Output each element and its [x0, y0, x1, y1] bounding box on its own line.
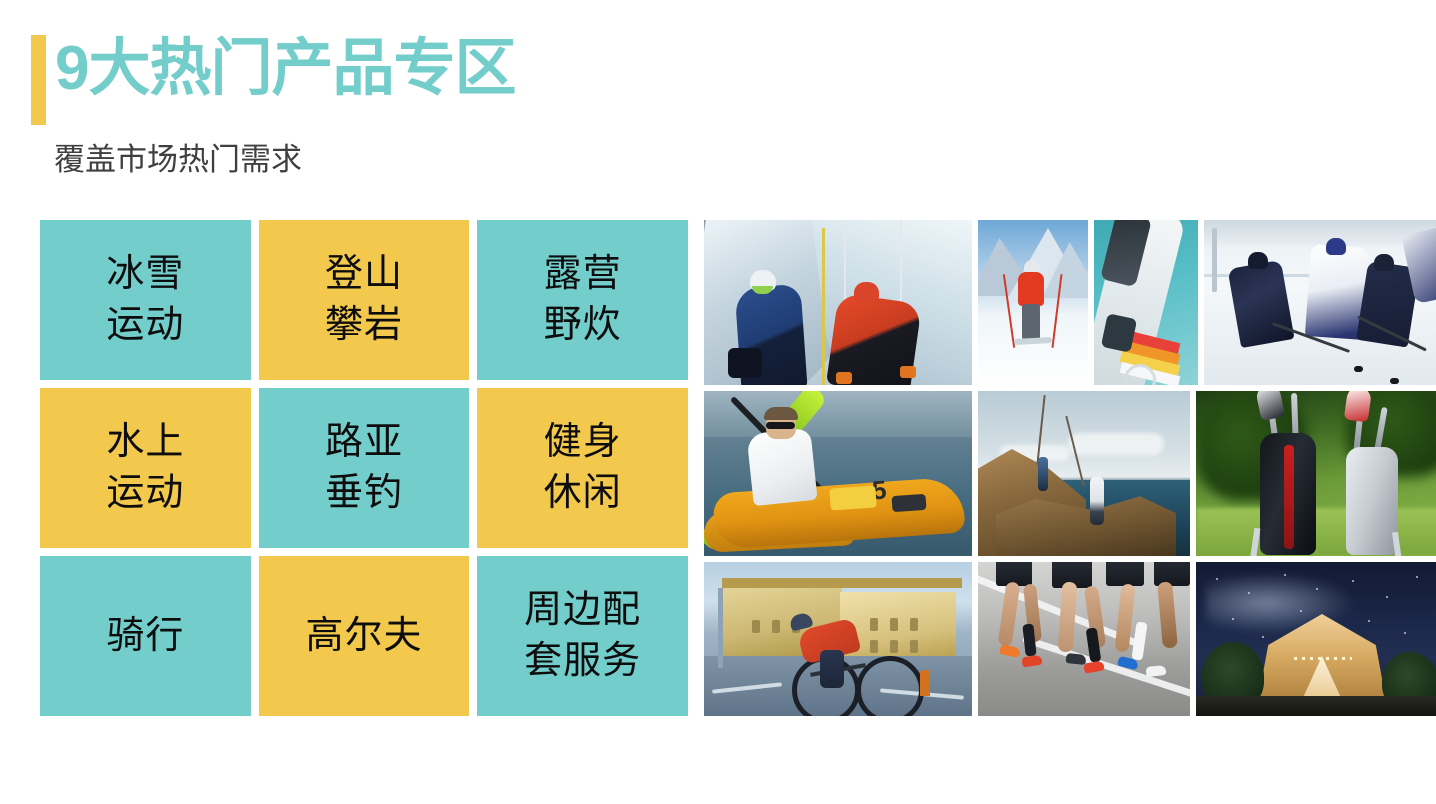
ice-hockey-photo [1204, 220, 1436, 385]
category-tile-label: 健身 [544, 417, 622, 468]
running-shoe [999, 644, 1021, 658]
category-tile-golf[interactable]: 高尔夫 [259, 556, 470, 716]
category-tile-cycling[interactable]: 骑行 [40, 556, 251, 716]
category-tile-grid: 冰雪运动登山攀岩露营野炊水上运动路亚垂钓健身休闲骑行高尔夫周边配套服务 [40, 220, 688, 716]
ski-slope-photo [978, 220, 1088, 385]
kayaking-photo: 5 [704, 391, 972, 556]
category-tile-snow-sports[interactable]: 冰雪运动 [40, 220, 251, 380]
category-tile-fitness-leisure[interactable]: 健身休闲 [477, 388, 688, 548]
category-tile-label: 休闲 [544, 468, 622, 519]
category-tile-label: 周边配 [524, 585, 641, 636]
category-tile-label: 冰雪 [106, 249, 184, 300]
ski-gear-photo [1094, 220, 1198, 385]
category-tile-label: 路亚 [325, 417, 403, 468]
night-camping-photo [1196, 562, 1436, 716]
climber-helmet-icon [750, 270, 776, 291]
photo-collage: 5 [704, 220, 1436, 716]
angler-figure [1038, 457, 1048, 491]
golf-bags-photo [1196, 391, 1436, 556]
kayaker-figure [746, 428, 817, 506]
category-tile-label: 露营 [544, 249, 622, 300]
category-tile-mountaineering-climbing[interactable]: 登山攀岩 [259, 220, 470, 380]
category-tile-label: 登山 [325, 249, 403, 300]
category-tile-camping-cookout[interactable]: 露营野炊 [477, 220, 688, 380]
category-tile-label: 骑行 [106, 611, 184, 662]
page-subtitle: 覆盖市场热门需求 [54, 141, 302, 178]
angler-figure [1090, 477, 1104, 525]
string-lights [1294, 657, 1352, 660]
category-tile-label: 运动 [106, 300, 184, 351]
running-race-photo [978, 562, 1190, 716]
sunglasses-icon [766, 422, 795, 429]
page-title: 9大热门产品专区 [55, 38, 515, 100]
category-tile-label: 运动 [106, 468, 184, 519]
climber-helmet-icon [854, 282, 879, 302]
golf-bag-light [1346, 447, 1398, 555]
ice-climbing-photo [704, 220, 972, 385]
running-shoe [1021, 655, 1042, 668]
category-tile-label: 野炊 [544, 300, 622, 351]
bicycle-wheel [856, 656, 924, 716]
photo-row-3 [704, 562, 1436, 716]
category-tile-label: 套服务 [524, 636, 641, 687]
category-tile-water-sports[interactable]: 水上运动 [40, 388, 251, 548]
page-header: 9大热门产品专区 覆盖市场热门需求 [0, 0, 1436, 200]
running-shoe [1083, 660, 1104, 673]
category-tile-label: 垂钓 [325, 468, 403, 519]
road-cycling-photo [704, 562, 972, 716]
photo-row-2: 5 [704, 391, 1436, 556]
category-tile-label: 攀岩 [325, 300, 403, 351]
club-head-cover [1344, 391, 1372, 423]
skier-figure [1018, 272, 1044, 306]
category-tile-label: 高尔夫 [305, 611, 422, 662]
running-shoe [1066, 653, 1087, 665]
category-tile-accessory-services[interactable]: 周边配套服务 [477, 556, 688, 716]
running-shoe [1146, 665, 1167, 677]
sea-fishing-photo [978, 391, 1190, 556]
category-tile-lure-fishing[interactable]: 路亚垂钓 [259, 388, 470, 548]
photo-row-1 [704, 220, 1436, 385]
category-tile-label: 水上 [106, 417, 184, 468]
title-accent-bar [31, 35, 46, 125]
